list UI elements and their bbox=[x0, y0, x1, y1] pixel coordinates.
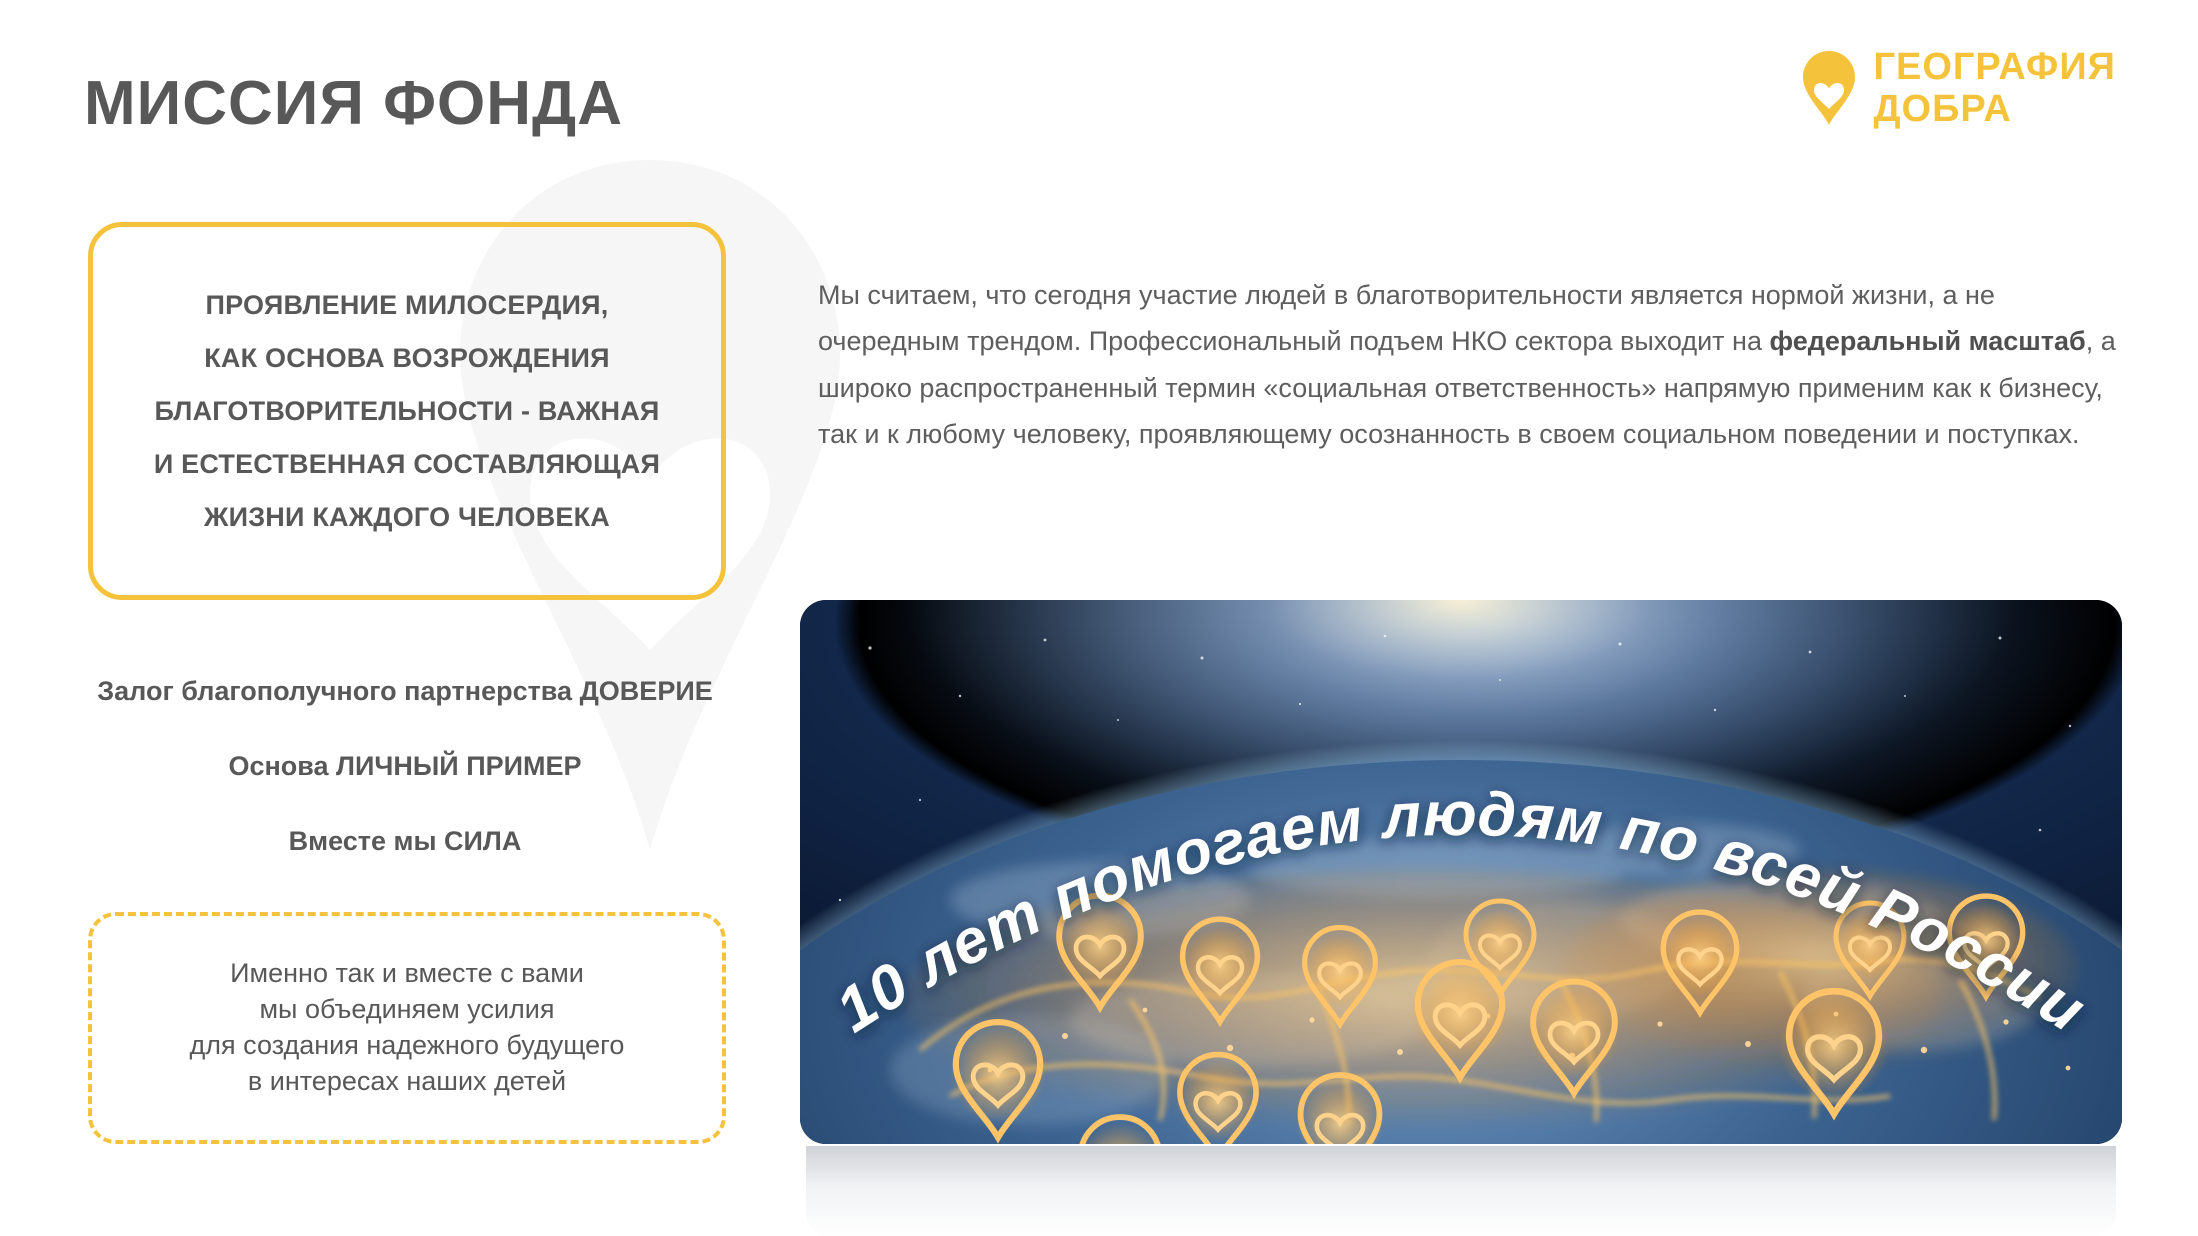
mission-statement-box: ПРОЯВЛЕНИЕ МИЛОСЕРДИЯ, КАК ОСНОВА ВОЗРОЖ… bbox=[88, 222, 726, 600]
paragraph-emphasis: федеральный масштаб bbox=[1769, 326, 2085, 356]
callout-line: для создания надежного будущего bbox=[190, 1028, 625, 1064]
body-paragraph: Мы считаем, что сегодня участие людей в … bbox=[818, 272, 2118, 458]
brand-logo: ГЕОГРАФИЯ ДОБРА bbox=[1801, 48, 2116, 128]
principle-item: Вместе мы СИЛА bbox=[70, 828, 740, 855]
page-title: МИССИЯ ФОНДА bbox=[84, 68, 623, 139]
principles-list: Залог благополучного партнерства ДОВЕРИЕ… bbox=[70, 678, 740, 855]
earth-from-space-image: 10 лет помогаем людям по всей России bbox=[800, 600, 2122, 1144]
mission-line: КАК ОСНОВА ВОЗРОЖДЕНИЯ bbox=[204, 345, 610, 372]
slide-root: МИССИЯ ФОНДА ГЕОГРАФИЯ ДОБРА ПРОЯВЛЕНИЕ … bbox=[0, 0, 2198, 1236]
mission-line: И ЕСТЕСТВЕННАЯ СОСТАВЛЯЮЩАЯ bbox=[154, 451, 660, 478]
callout-dashed-box: Именно так и вместе с вами мы объединяем… bbox=[88, 912, 726, 1144]
hero-image-reflection bbox=[806, 1146, 2116, 1236]
logo-line-1: ГЕОГРАФИЯ bbox=[1873, 48, 2116, 86]
mission-line: ПРОЯВЛЕНИЕ МИЛОСЕРДИЯ, bbox=[206, 292, 609, 319]
logo-text: ГЕОГРАФИЯ ДОБРА bbox=[1873, 48, 2116, 128]
callout-line: в интересах наших детей bbox=[248, 1064, 566, 1100]
mission-line: ЖИЗНИ КАЖДОГО ЧЕЛОВЕКА bbox=[204, 504, 610, 531]
callout-line: Именно так и вместе с вами bbox=[230, 956, 584, 992]
logo-line-2: ДОБРА bbox=[1873, 90, 2116, 128]
mission-line: БЛАГОТВОРИТЕЛЬНОСТИ - ВАЖНАЯ bbox=[155, 398, 660, 425]
hero-image-block: 10 лет помогаем людям по всей России bbox=[800, 600, 2122, 1144]
principle-item: Залог благополучного партнерства ДОВЕРИЕ bbox=[70, 678, 740, 705]
principle-item: Основа ЛИЧНЫЙ ПРИМЕР bbox=[70, 753, 740, 780]
map-pin-heart-icon bbox=[1801, 50, 1857, 126]
callout-line: мы объединяем усилия bbox=[259, 992, 554, 1028]
